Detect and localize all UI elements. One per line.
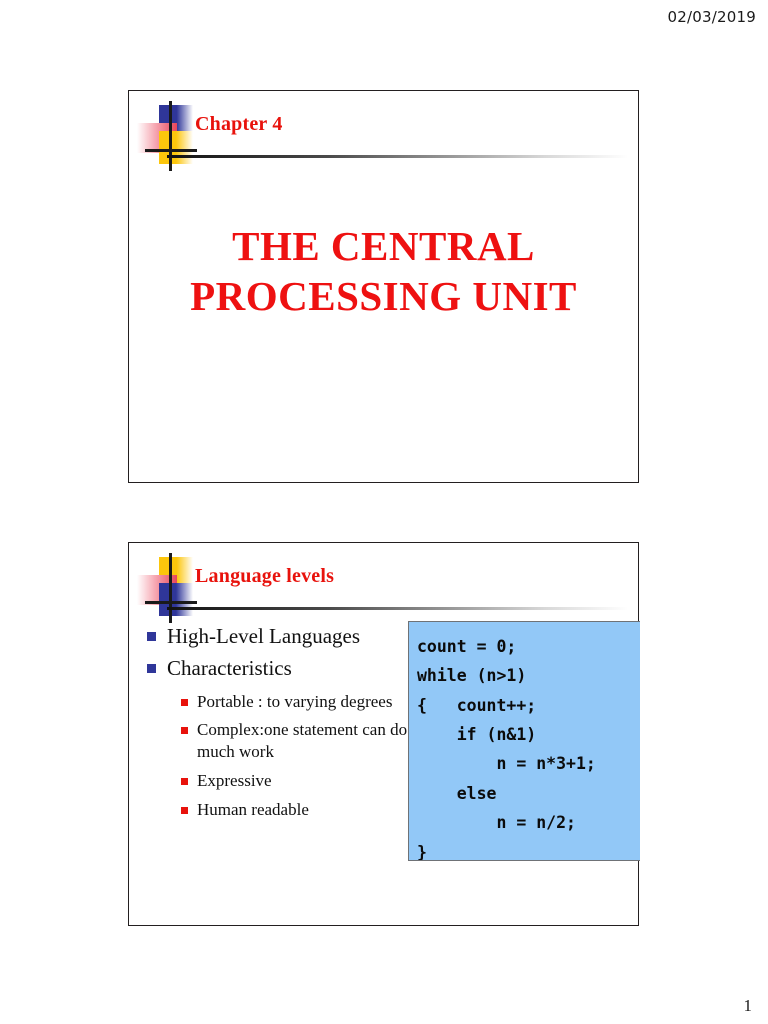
code-block: count = 0; while (n>1) { count++; if (n&… [408,621,640,861]
bullet-list: High-Level Languages Characteristics Por… [147,623,415,827]
sub-bullet-label: Portable : to varying degrees [197,691,392,713]
cover-title-line-1: THE CENTRAL [129,221,638,271]
slide-1-header-rule [167,155,628,158]
bullet-label: Characteristics [167,655,292,681]
bullet-square-icon [147,632,156,641]
sub-bullet-list: Portable : to varying degrees Complex:on… [181,691,415,821]
list-item: Characteristics [147,655,415,681]
sub-bullet-label: Human readable [197,799,309,821]
cover-title: THE CENTRAL PROCESSING UNIT [129,221,638,322]
sub-bullet-square-icon [181,699,188,706]
slide-2-header: Language levels [129,543,638,629]
sub-bullet-label: Expressive [197,770,272,792]
logo-horizontal-bar-icon [145,149,197,152]
slide-2-title: Language levels [195,565,334,588]
list-item: Portable : to varying degrees [181,691,415,713]
slide-language-levels[interactable]: Language levels High-Level Languages Cha… [128,542,639,926]
slide-1-header: Chapter 4 [129,91,638,177]
logo-vertical-bar-icon [169,101,172,171]
slide-2-header-rule [167,607,628,610]
bullet-square-icon [147,664,156,673]
page-number: 1 [744,996,753,1016]
sub-bullet-label: Complex:one statement can do much work [197,719,415,763]
logo-vertical-bar-icon [169,553,172,623]
slide-1-title: Chapter 4 [195,113,283,136]
list-item: Complex:one statement can do much work [181,719,415,763]
list-item: Human readable [181,799,415,821]
page-date: 02/03/2019 [668,8,756,26]
powerpoint-template-logo-icon [137,101,211,171]
slide-chapter-4[interactable]: Chapter 4 THE CENTRAL PROCESSING UNIT [128,90,639,483]
sub-bullet-square-icon [181,727,188,734]
sub-bullet-square-icon [181,778,188,785]
list-item: Expressive [181,770,415,792]
logo-yellow-square-icon [159,131,193,164]
logo-blue-square-icon [159,583,193,616]
cover-title-line-2: PROCESSING UNIT [129,271,638,321]
sub-bullet-square-icon [181,807,188,814]
list-item: High-Level Languages [147,623,415,649]
logo-horizontal-bar-icon [145,601,197,604]
bullet-label: High-Level Languages [167,623,360,649]
powerpoint-template-logo-icon [137,553,211,623]
